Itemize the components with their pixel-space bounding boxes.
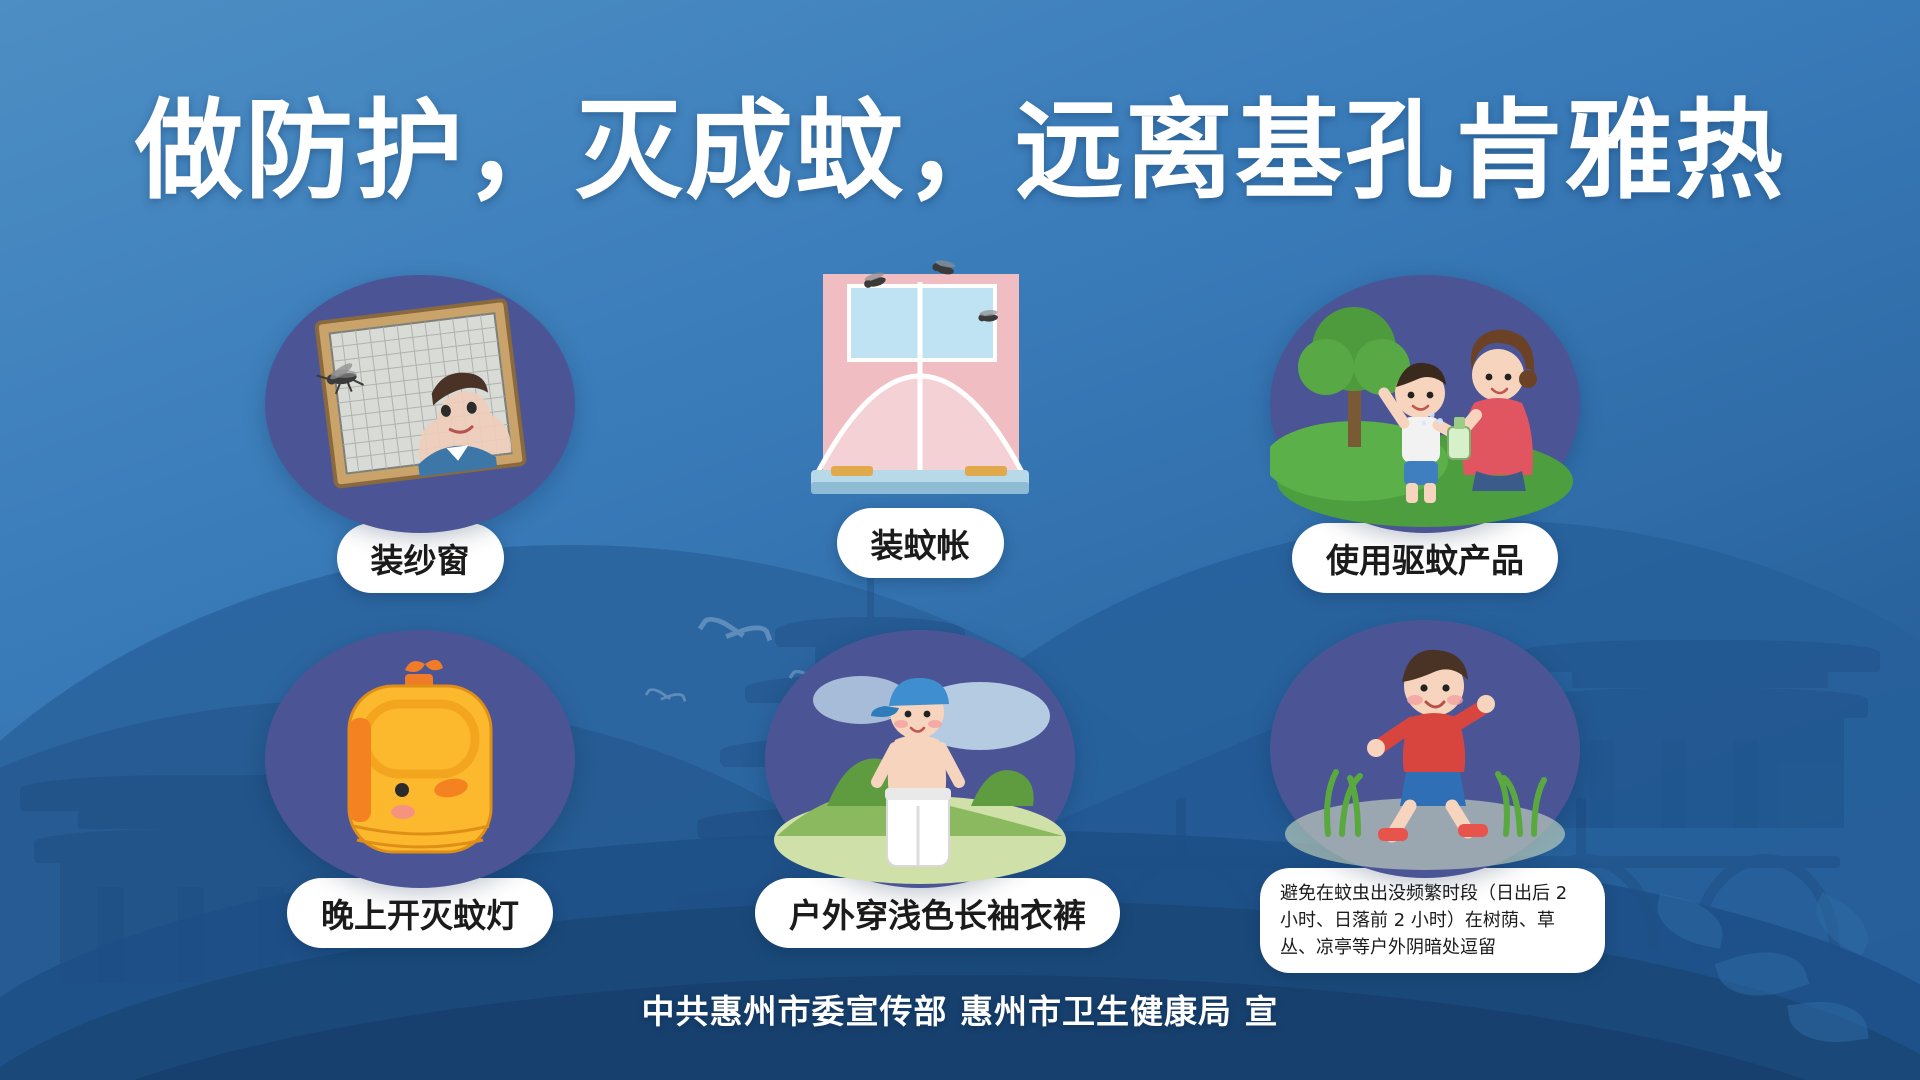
tip-label: 避免在蚊虫出没频繁时段（日出后 2 小时、日落前 2 小时）在树荫、草丛、凉亭等… — [1260, 868, 1605, 973]
tip-card-night-lamp[interactable]: 晚上开灭蚊灯 — [255, 630, 585, 948]
mosquito-net-icon — [765, 260, 1075, 518]
tip-illustration-blob — [1270, 620, 1580, 878]
tip-illustration-blob — [1270, 275, 1580, 533]
tip-label: 晚上开灭蚊灯 — [287, 878, 553, 948]
tip-card-repellent[interactable]: 使用驱蚊产品 — [1260, 275, 1590, 593]
running-child-icon — [1270, 620, 1580, 878]
light-clothing-icon — [765, 630, 1075, 888]
tip-label: 装蚊帐 — [837, 508, 1004, 578]
repellent-spray-icon — [1270, 275, 1580, 533]
tip-illustration-blob — [265, 275, 575, 533]
tip-card-avoid-dusk-hours[interactable]: 避免在蚊虫出没频繁时段（日出后 2 小时、日落前 2 小时）在树荫、草丛、凉亭等… — [1260, 620, 1590, 973]
tip-label: 户外穿浅色长袖衣裤 — [755, 878, 1120, 948]
footer-attribution: 中共惠州市委宣传部 惠州市卫生健康局 宣 — [0, 985, 1920, 1033]
window-screen-icon — [265, 275, 575, 533]
tip-illustration-blob — [765, 260, 1075, 518]
tip-illustration-blob — [765, 630, 1075, 888]
poster-canvas: 做防护，灭成蚊，远离基孔肯雅热 — [0, 0, 1920, 1080]
tip-card-light-clothing[interactable]: 户外穿浅色长袖衣裤 — [755, 630, 1085, 948]
page-title: 做防护，灭成蚊，远离基孔肯雅热 — [0, 95, 1920, 208]
tip-label: 装纱窗 — [337, 523, 504, 593]
tip-illustration-blob — [265, 630, 575, 888]
tip-label: 使用驱蚊产品 — [1292, 523, 1558, 593]
tips-grid: 装纱窗 — [0, 275, 1920, 965]
mosquito-lamp-icon — [265, 630, 575, 888]
tip-card-screen-window[interactable]: 装纱窗 — [255, 275, 585, 593]
tip-card-mosquito-net[interactable]: 装蚊帐 — [755, 260, 1085, 578]
